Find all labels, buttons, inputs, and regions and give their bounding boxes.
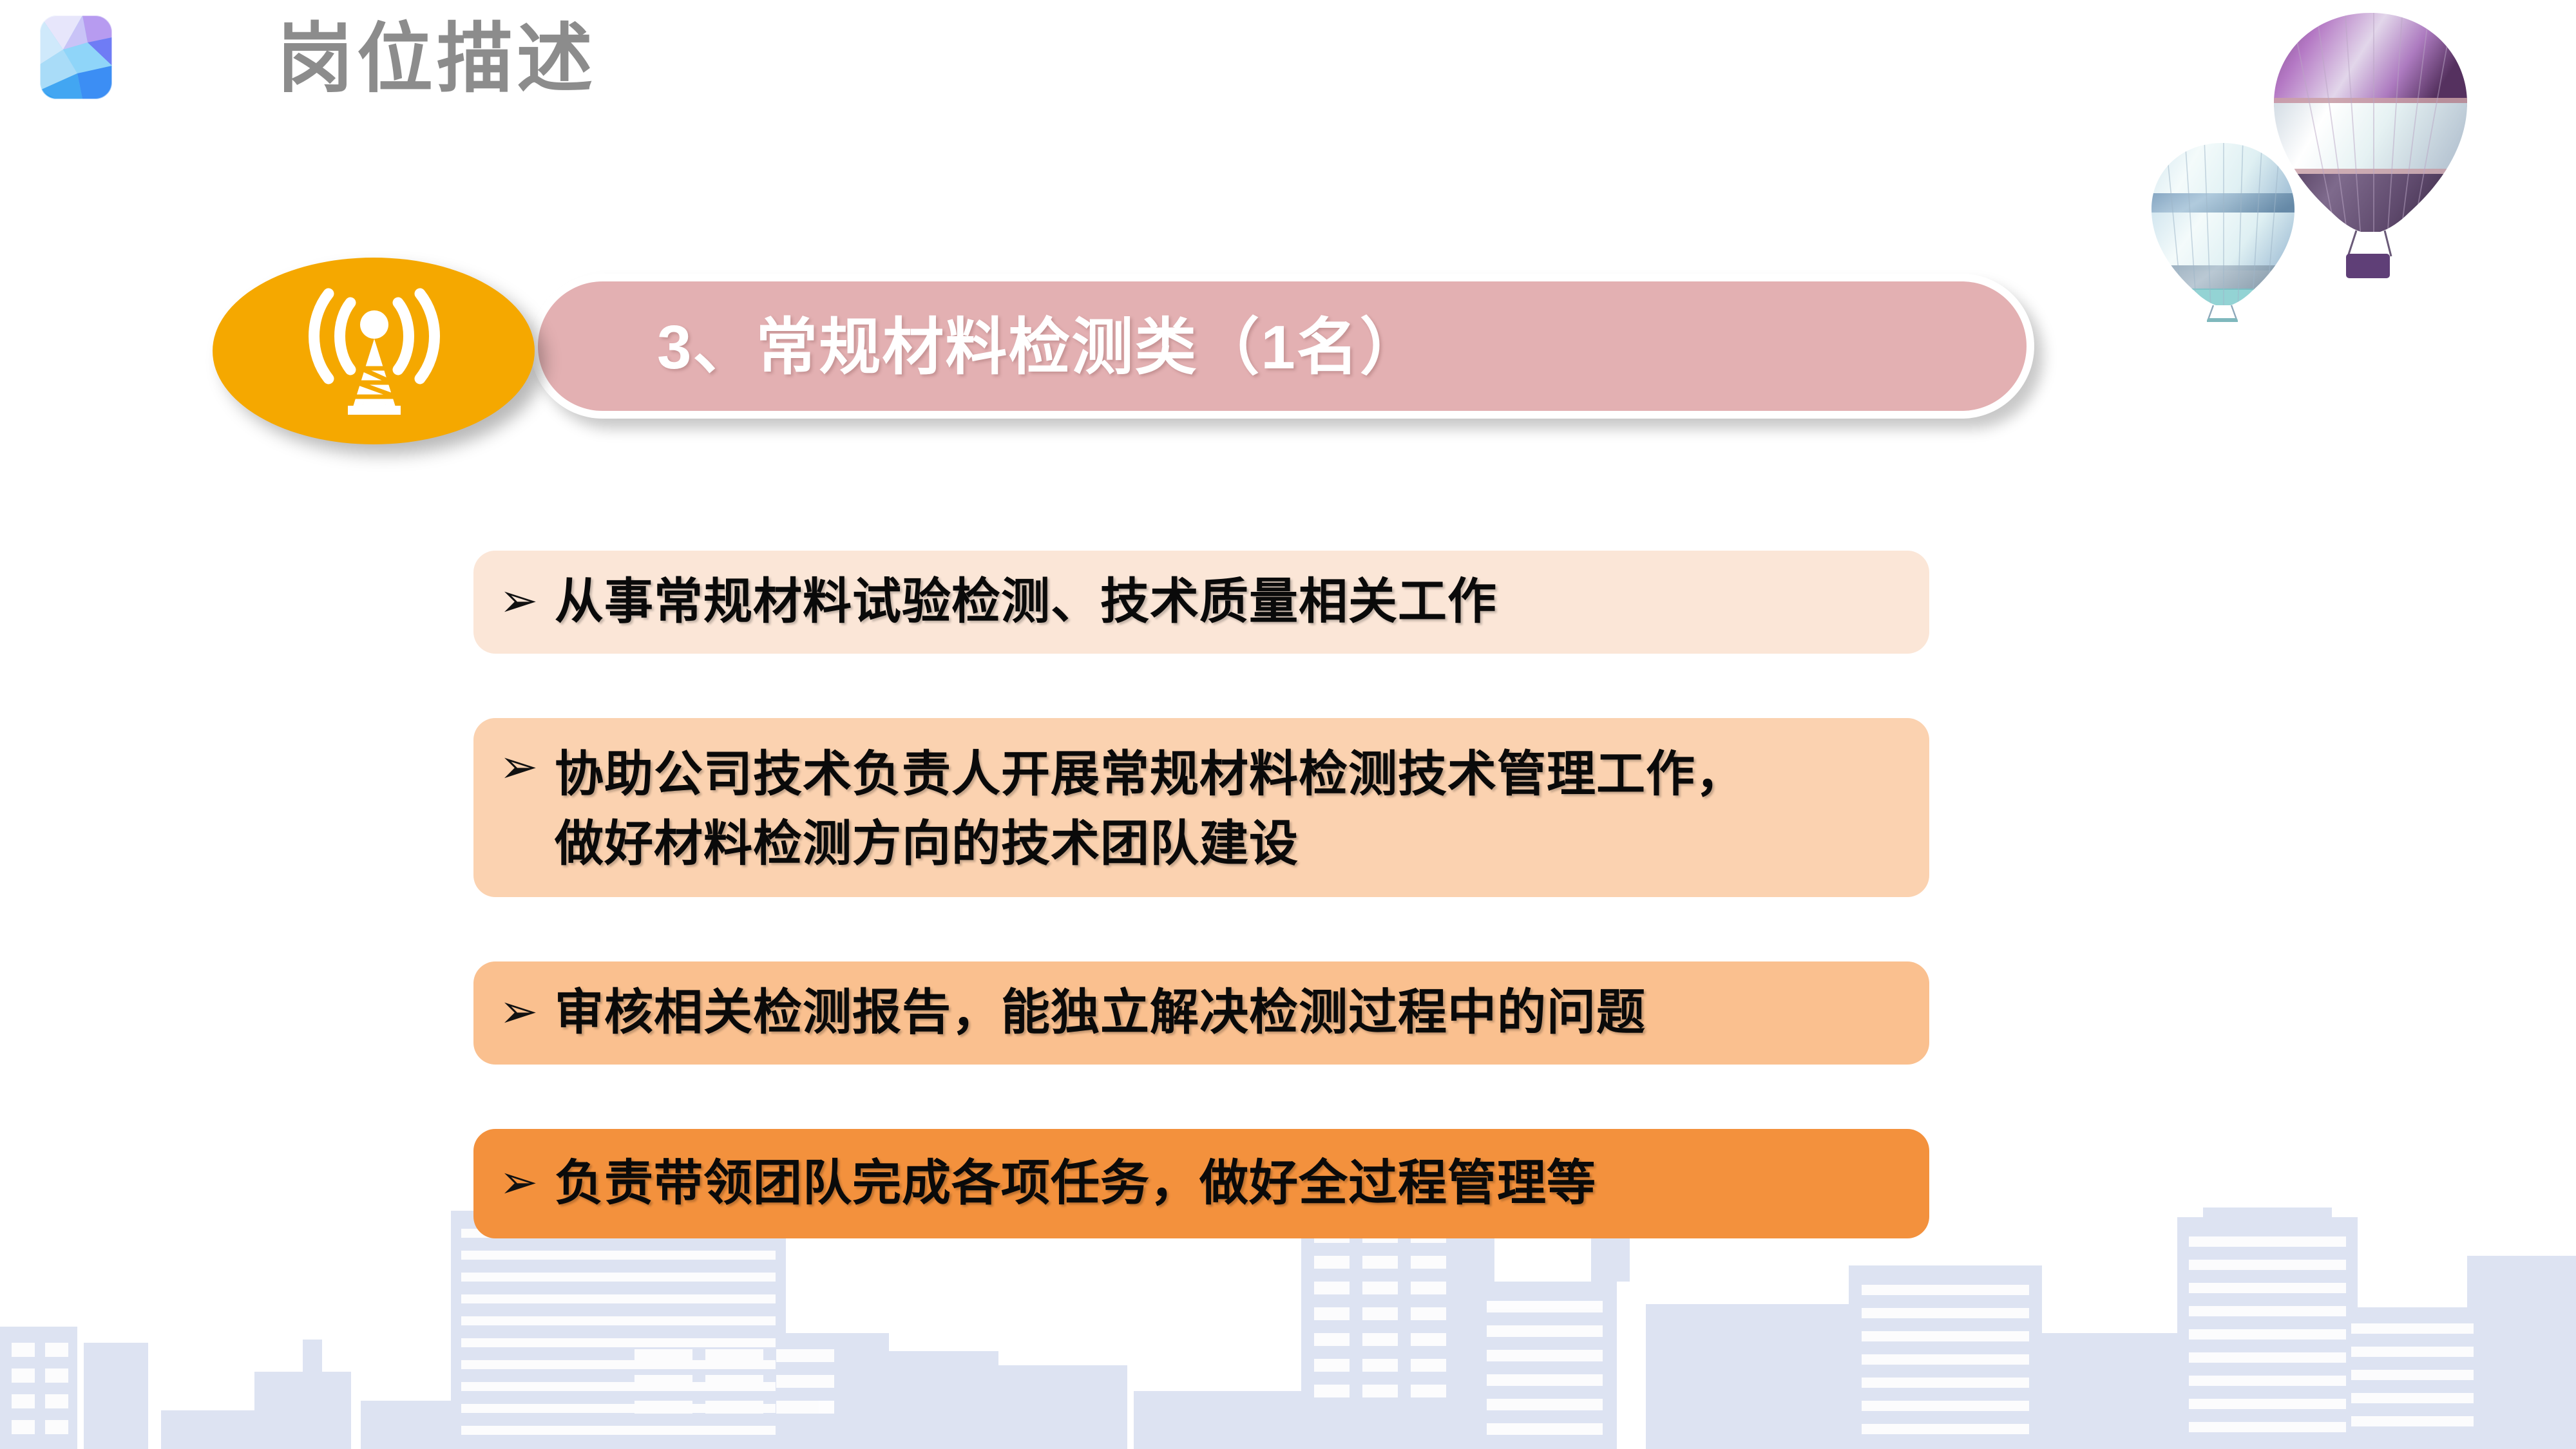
hot-air-balloon-purple bbox=[2267, 6, 2474, 278]
list-item[interactable]: ➢ 协助公司技术负责人开展常规材料检测技术管理工作， 做好材料检测方向的技术团队… bbox=[473, 718, 1929, 897]
list-item-text: 从事常规材料试验检测、技术质量相关工作 bbox=[555, 567, 1910, 637]
section-badge bbox=[213, 258, 535, 444]
list-item[interactable]: ➢ 从事常规材料试验检测、技术质量相关工作 bbox=[473, 551, 1929, 654]
arrow-bullet-icon: ➢ bbox=[499, 744, 555, 790]
hot-air-balloon-teal bbox=[2151, 138, 2306, 322]
arrow-bullet-icon: ➢ bbox=[499, 578, 555, 624]
list-item-line: 做好材料检测方向的技术团队建设 bbox=[555, 817, 1299, 871]
arrow-bullet-icon: ➢ bbox=[499, 1159, 555, 1206]
section-title: 3、常规材料检测类（1名） bbox=[657, 293, 2010, 402]
list-item-text: 审核相关检测报告，能独立解决检测过程中的问题 bbox=[555, 978, 1910, 1048]
arrow-bullet-icon: ➢ bbox=[499, 989, 555, 1035]
hot-air-balloons-decoration bbox=[2151, 0, 2576, 322]
page-title: 岗位描述 bbox=[277, 14, 596, 104]
section-banner: 3、常规材料检测类（1名） bbox=[213, 258, 1862, 444]
list-item-text: 协助公司技术负责人开展常规材料检测技术管理工作， 做好材料检测方向的技术团队建设 bbox=[555, 736, 1910, 879]
responsibility-list: ➢ 从事常规材料试验检测、技术质量相关工作 ➢ 协助公司技术负责人开展常规材料检… bbox=[473, 551, 1929, 1238]
list-item[interactable]: ➢ 负责带领团队完成各项任务，做好全过程管理等 bbox=[473, 1129, 1929, 1238]
gradient-app-icon bbox=[37, 14, 120, 103]
list-item-text: 负责带领团队完成各项任务，做好全过程管理等 bbox=[555, 1149, 1910, 1218]
list-item-line: 协助公司技术负责人开展常规材料检测技术管理工作， bbox=[555, 747, 1745, 802]
list-item[interactable]: ➢ 审核相关检测报告，能独立解决检测过程中的问题 bbox=[473, 961, 1929, 1065]
broadcast-tower-icon bbox=[289, 285, 460, 417]
slide-header: 岗位描述 bbox=[0, 0, 902, 167]
